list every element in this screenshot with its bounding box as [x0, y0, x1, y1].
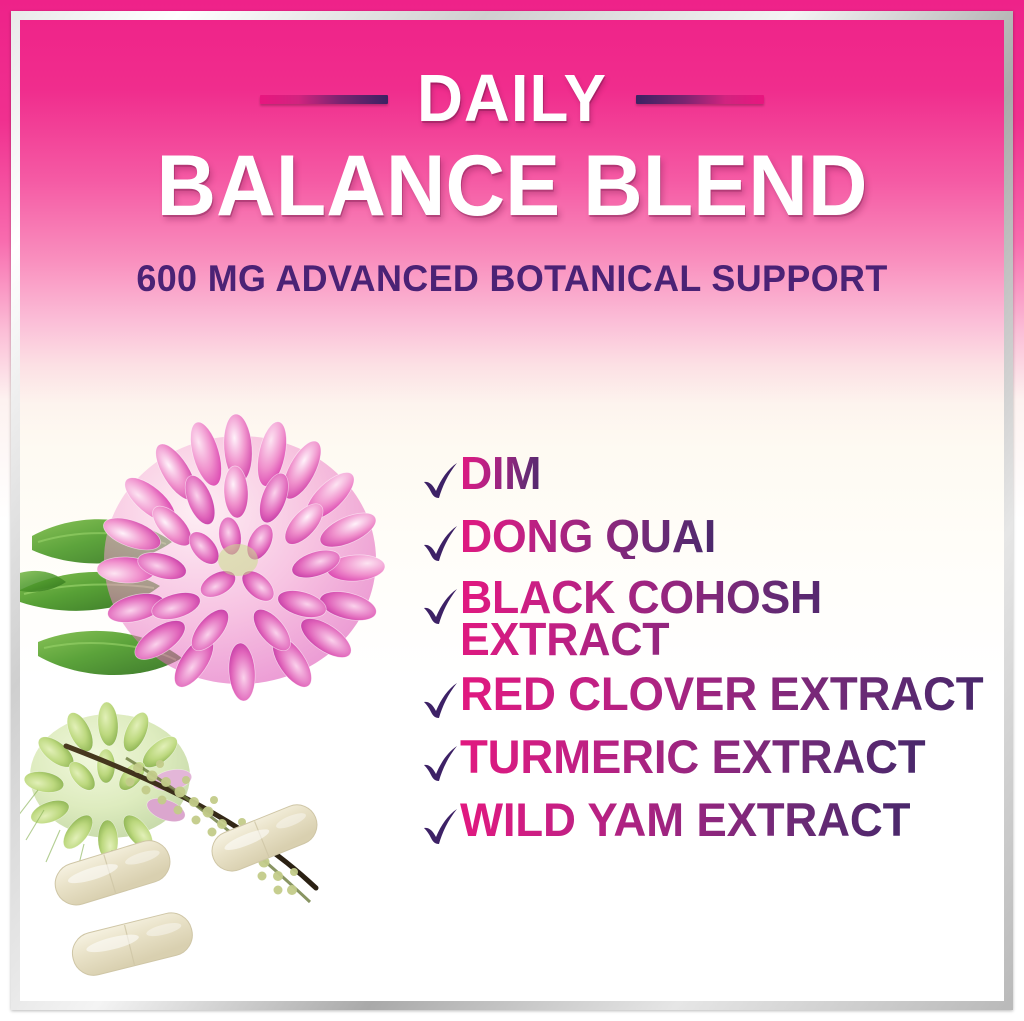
checkmark-icon	[420, 521, 460, 567]
silver-frame-border: DAILY BALANCE BLEND 600 MG ADVANCED BOTA…	[11, 11, 1013, 1010]
product-infographic: DAILY BALANCE BLEND 600 MG ADVANCED BOTA…	[0, 0, 1024, 1021]
dash-left-icon	[260, 95, 388, 104]
header-block: DAILY BALANCE BLEND 600 MG ADVANCED BOTA…	[20, 60, 1004, 300]
checkmark-icon	[420, 458, 460, 504]
ingredient-label: DONG QUAI	[460, 513, 720, 559]
ingredient-label: DIM	[460, 450, 545, 496]
list-item: DIM	[420, 450, 1004, 504]
page-subtitle: 600 MG ADVANCED BOTANICAL SUPPORT	[35, 258, 989, 300]
list-item: TURMERIC EXTRACT	[420, 733, 1004, 787]
ingredient-label: RED CLOVER EXTRACT	[460, 670, 987, 717]
checkmark-icon	[420, 804, 460, 850]
ingredient-label: WILD YAM EXTRACT	[460, 796, 914, 843]
checkmark-icon	[420, 741, 460, 787]
title-row: DAILY	[20, 60, 1004, 138]
checkmark-icon	[420, 678, 460, 724]
ingredient-label: TURMERIC EXTRACT	[460, 733, 929, 780]
ingredient-list: DIM DONG QUAI BLACK COHOSH EXTRACT	[420, 450, 1004, 859]
dash-right-icon	[636, 95, 764, 104]
ingredient-label: BLACK COHOSH EXTRACT	[460, 576, 852, 661]
list-item: RED CLOVER EXTRACT	[420, 670, 1004, 724]
list-item: WILD YAM EXTRACT	[420, 796, 1004, 850]
checkmark-icon	[420, 584, 460, 630]
frame-inner-area: DAILY BALANCE BLEND 600 MG ADVANCED BOTA…	[20, 20, 1004, 1001]
page-title-line2: BALANCE BLEND	[40, 146, 985, 228]
list-item: DONG QUAI	[420, 513, 1004, 567]
list-item: BLACK COHOSH EXTRACT	[420, 576, 1004, 661]
page-title-line1: DAILY	[417, 67, 607, 131]
